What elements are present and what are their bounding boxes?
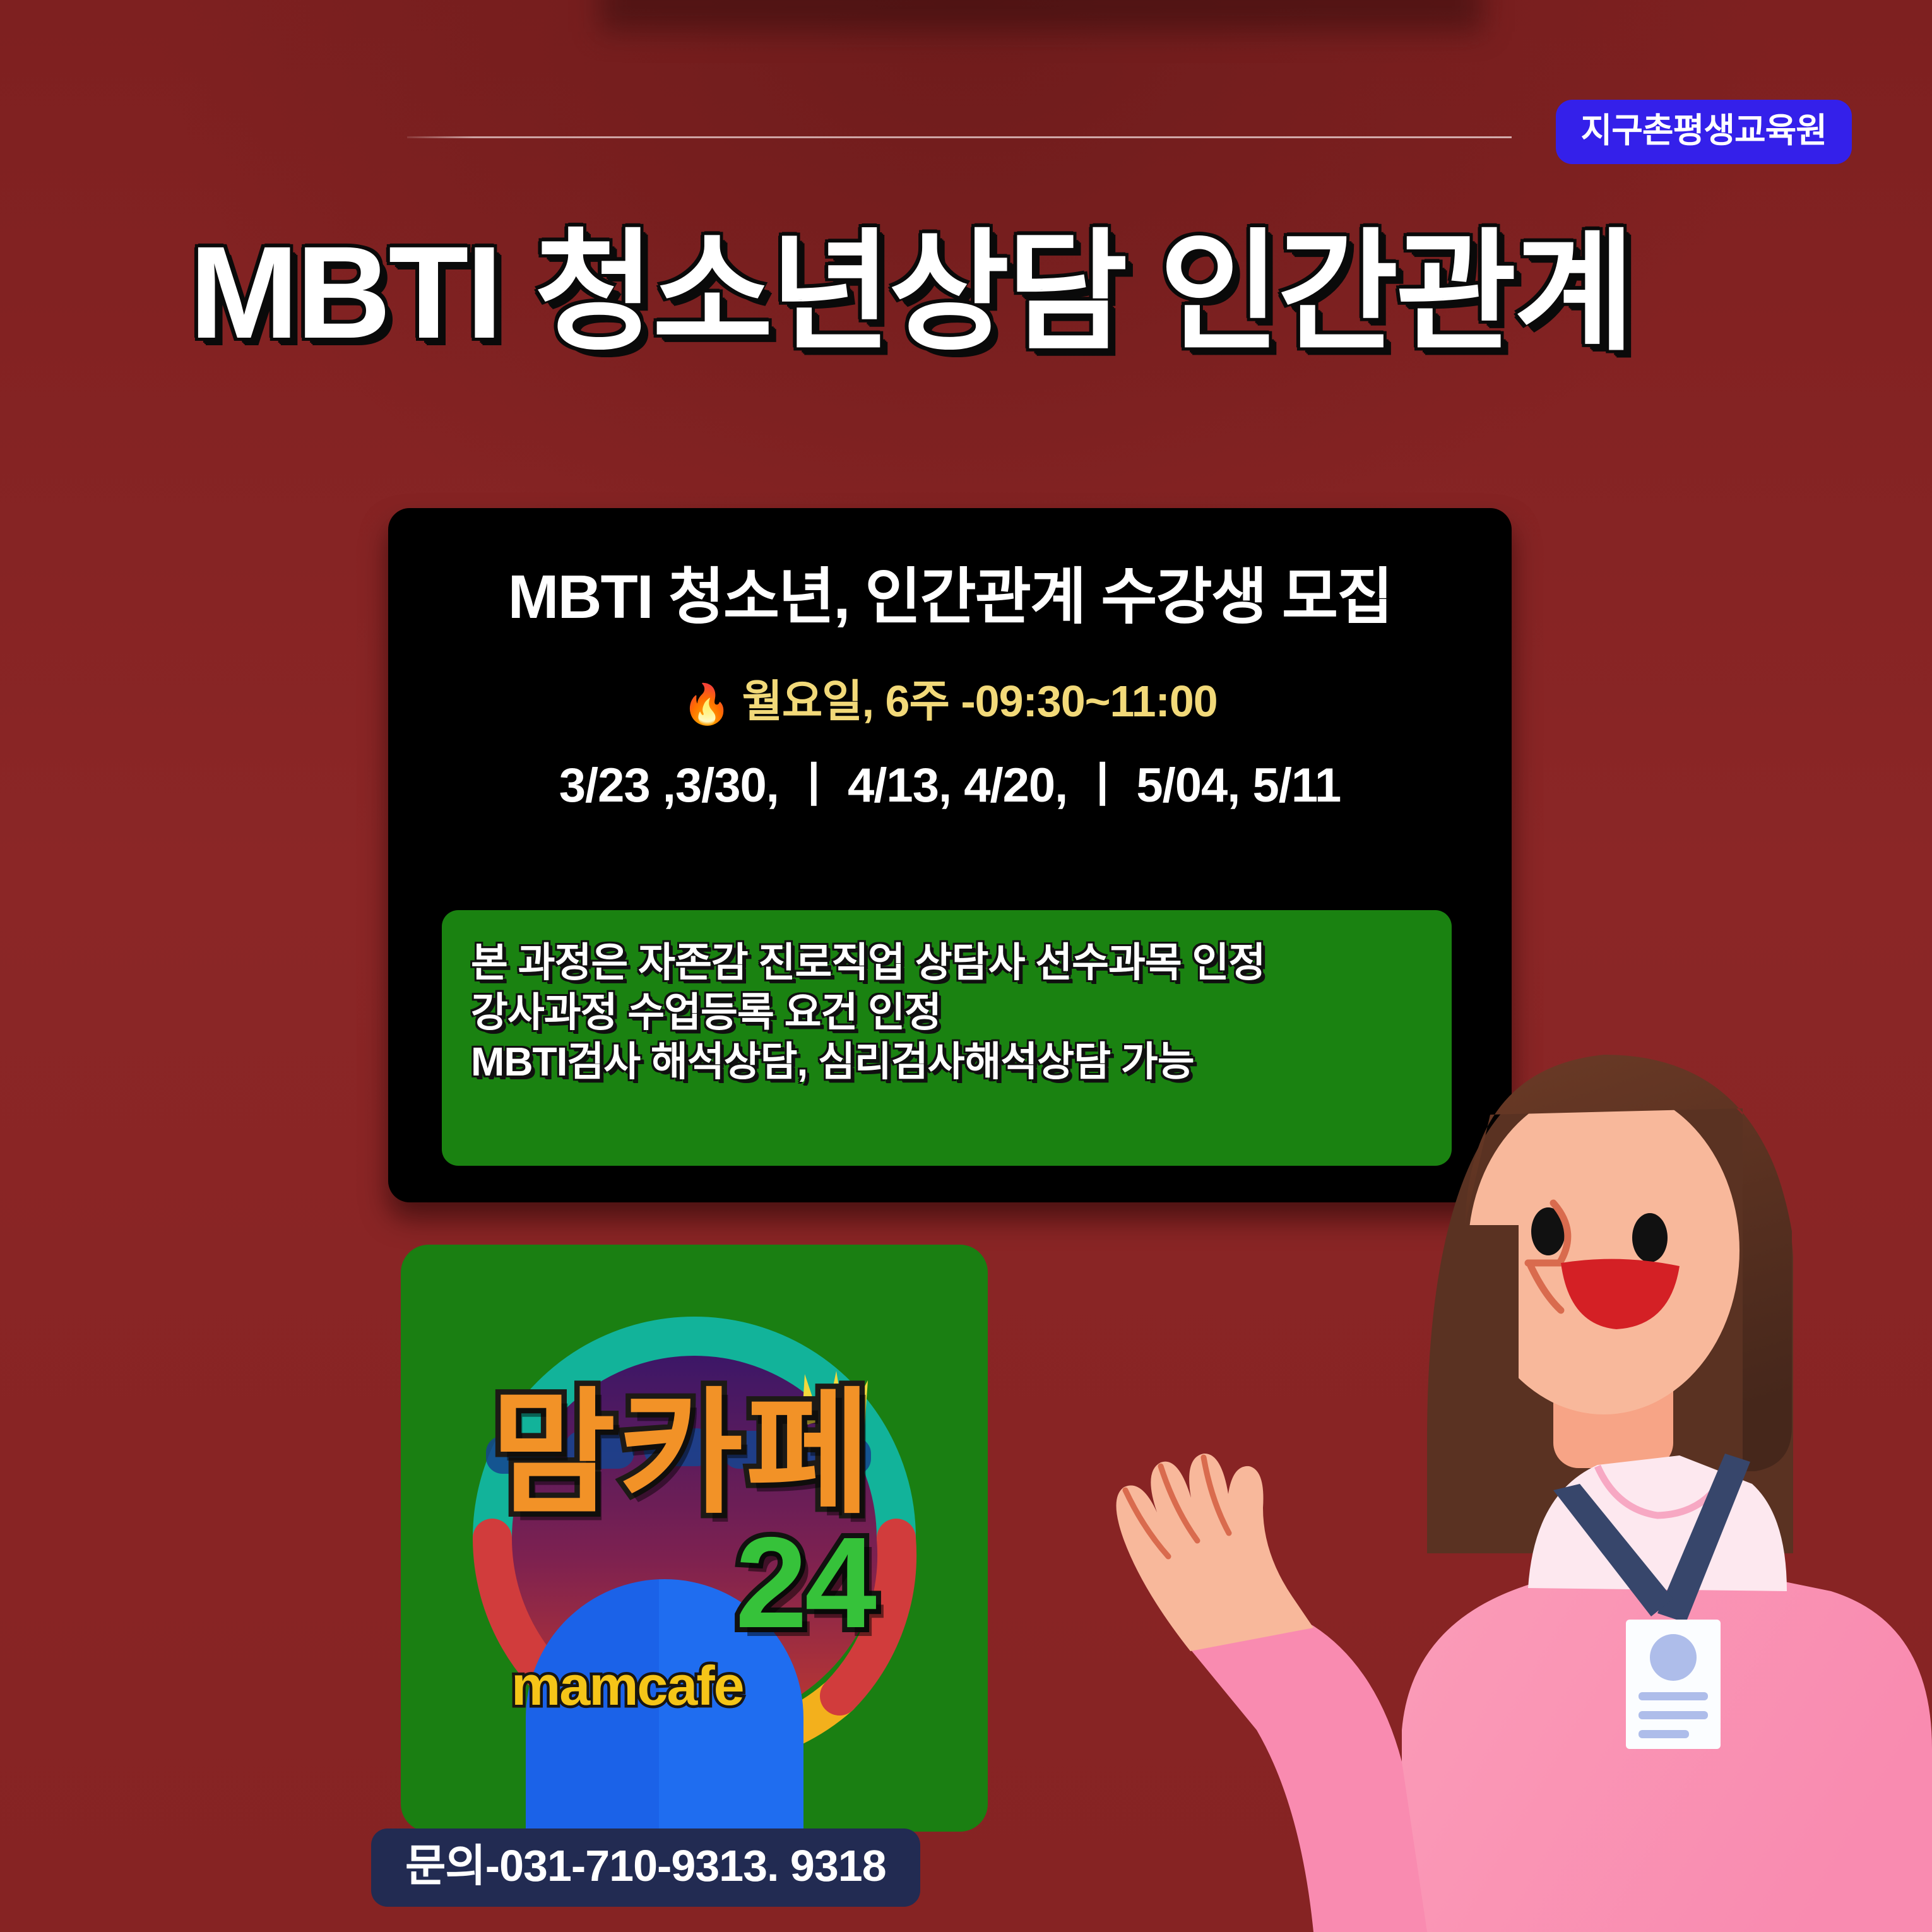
org-badge: 지구촌평생교육원 bbox=[1556, 100, 1852, 164]
notes-line: 강사과정 수업등록 요건 인정 bbox=[471, 988, 1452, 1038]
header-divider-line bbox=[407, 136, 1512, 138]
poster-canvas: 지구촌평생교육원 MBTI 청소년상담 인간관계 MBTI 청소년, 인간관계 … bbox=[0, 0, 1932, 1932]
page-title: MBTI 청소년상담 인간관계 bbox=[189, 227, 1632, 359]
logo-number-text: 24 bbox=[735, 1518, 874, 1647]
info-card-schedule: 🔥월요일, 6주 -09:30~11:00 bbox=[388, 677, 1512, 726]
logo-hangul-text: 맘카페 bbox=[491, 1385, 873, 1521]
notes-box: 본 과정은 자존감 진로직업 상담사 선수과목 인정 강사과정 수업등록 요건 … bbox=[442, 910, 1452, 1166]
top-shadow-band bbox=[600, 0, 1483, 32]
logo-ring-graphic: 맘카페 24 mamcafe bbox=[448, 1292, 940, 1784]
contact-text: 문의-031-710-9313. 9318 bbox=[405, 1841, 886, 1890]
schedule-text: 월요일, 6주 -09:30~11:00 bbox=[742, 677, 1217, 726]
logo-romanized-text: mamcafe bbox=[511, 1658, 744, 1714]
contact-bar[interactable]: 문의-031-710-9313. 9318 bbox=[371, 1828, 920, 1907]
notes-line: 본 과정은 자존감 진로직업 상담사 선수과목 인정 bbox=[471, 938, 1452, 988]
org-badge-label: 지구촌평생교육원 bbox=[1581, 112, 1827, 150]
notes-line: MBTI검사 해석상담, 심리검사해석상담 가능 bbox=[471, 1037, 1452, 1087]
mamcafe-logo: 맘카페 24 mamcafe bbox=[401, 1245, 988, 1832]
info-card-dates: 3/23 ,3/30, ㅣ 4/13, 4/20, ㅣ 5/04, 5/11 bbox=[388, 759, 1512, 812]
info-card-headline: MBTI 청소년, 인간관계 수강생 모집 bbox=[388, 565, 1512, 629]
fire-icon: 🔥 bbox=[682, 683, 730, 726]
